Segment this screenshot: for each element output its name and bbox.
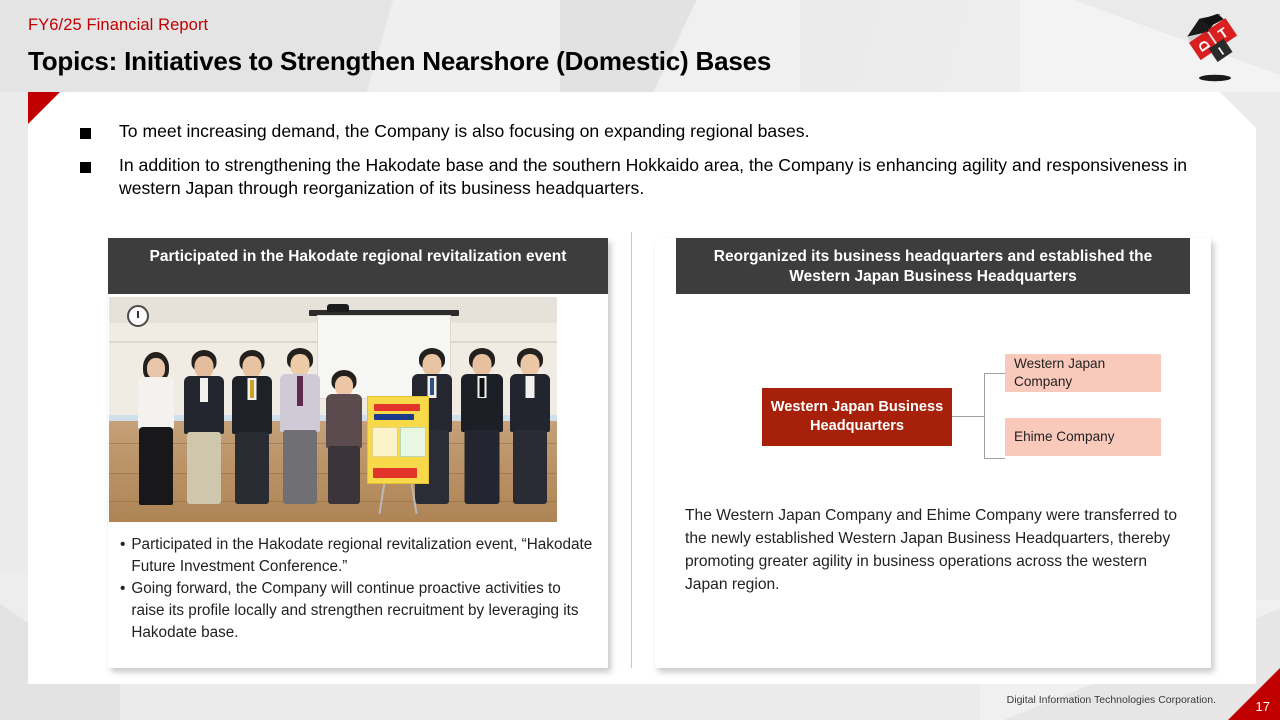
left-panel-caption-list: • Participated in the Hakodate regional … bbox=[108, 522, 608, 644]
photo-person bbox=[277, 348, 323, 512]
dot-bullet-icon: • bbox=[120, 578, 125, 643]
summary-bullet-text: In addition to strengthening the Hakodat… bbox=[119, 154, 1210, 201]
page-title: Topics: Initiatives to Strengthen Nearsh… bbox=[28, 46, 771, 77]
projector-screen-knob bbox=[327, 304, 349, 312]
poster-block-right bbox=[400, 427, 426, 457]
report-label: FY6/25 Financial Report bbox=[28, 16, 208, 35]
left-topic-panel: Participated in the Hakodate regional re… bbox=[108, 238, 608, 668]
photo-person bbox=[135, 352, 177, 512]
org-node-child: Ehime Company bbox=[1005, 418, 1161, 456]
right-topic-panel: Reorganized its business headquarters an… bbox=[655, 238, 1211, 668]
photo-person bbox=[507, 348, 553, 512]
caption-item: • Going forward, the Company will contin… bbox=[120, 578, 594, 643]
caption-item: • Participated in the Hakodate regional … bbox=[120, 534, 594, 577]
summary-bullet-list: To meet increasing demand, the Company i… bbox=[80, 120, 1210, 211]
org-chart: Western Japan Business Headquarters West… bbox=[655, 294, 1211, 504]
summary-bullet-text: To meet increasing demand, the Company i… bbox=[119, 120, 810, 144]
org-node-parent: Western Japan Business Headquarters bbox=[762, 388, 952, 446]
event-poster bbox=[367, 396, 429, 484]
caption-text: Participated in the Hakodate regional re… bbox=[131, 534, 594, 577]
org-connector-branch bbox=[984, 373, 1005, 374]
slide-content-card: To meet increasing demand, the Company i… bbox=[28, 92, 1256, 684]
right-panel-note: The Western Japan Company and Ehime Comp… bbox=[655, 504, 1211, 596]
poster-footer-band bbox=[373, 468, 417, 478]
photo-person bbox=[229, 350, 275, 512]
column-divider bbox=[631, 232, 632, 668]
org-node-child: Western Japan Company bbox=[1005, 354, 1161, 392]
photo-person bbox=[459, 348, 505, 512]
wall-clock-icon bbox=[127, 305, 149, 327]
slide-header: FY6/25 Financial Report Topics: Initiati… bbox=[0, 0, 1280, 92]
square-bullet-icon bbox=[80, 162, 91, 173]
poster-block-left bbox=[372, 427, 398, 457]
hakodate-event-photo bbox=[109, 297, 557, 522]
footer-company-name: Digital Information Technologies Corpora… bbox=[1007, 694, 1216, 706]
footer-corner-accent bbox=[1228, 668, 1280, 720]
summary-bullet-item: In addition to strengthening the Hakodat… bbox=[80, 154, 1210, 201]
dit-cube-logo: D T I bbox=[1178, 8, 1252, 86]
photo-person bbox=[181, 350, 227, 512]
caption-text: Going forward, the Company will continue… bbox=[131, 578, 594, 643]
dot-bullet-icon: • bbox=[120, 534, 125, 577]
left-panel-heading: Participated in the Hakodate regional re… bbox=[108, 238, 608, 294]
page-number: 17 bbox=[1256, 699, 1270, 714]
summary-bullet-item: To meet increasing demand, the Company i… bbox=[80, 120, 1210, 144]
org-connector-vertical bbox=[984, 373, 985, 459]
poster-easel bbox=[377, 482, 419, 514]
org-connector-branch bbox=[984, 458, 1005, 459]
square-bullet-icon bbox=[80, 128, 91, 139]
poster-subtitle-line bbox=[374, 414, 414, 420]
card-corner-accent bbox=[28, 92, 60, 124]
org-connector-stem bbox=[952, 416, 984, 417]
right-panel-heading: Reorganized its business headquarters an… bbox=[676, 238, 1190, 294]
poster-title-line bbox=[374, 404, 420, 411]
photo-person bbox=[323, 370, 365, 512]
